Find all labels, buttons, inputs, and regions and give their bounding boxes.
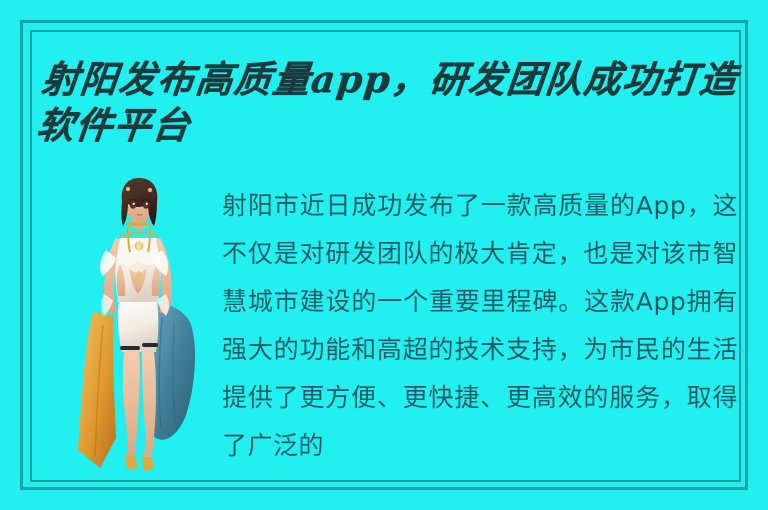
poster-canvas: 射阳发布高质量app，研发团队成功打造软件平台 bbox=[0, 0, 768, 510]
article-body-column: 射阳市近日成功发布了一款高质量的App，这不仅是对研发团队的极大肯定，也是对该市… bbox=[222, 182, 738, 482]
illustration-anime-woman bbox=[62, 176, 212, 472]
article-body-text: 射阳市近日成功发布了一款高质量的App，这不仅是对研发团队的极大肯定，也是对该市… bbox=[222, 182, 738, 470]
article-title: 射阳发布高质量app，研发团队成功打造软件平台 bbox=[34, 56, 744, 148]
